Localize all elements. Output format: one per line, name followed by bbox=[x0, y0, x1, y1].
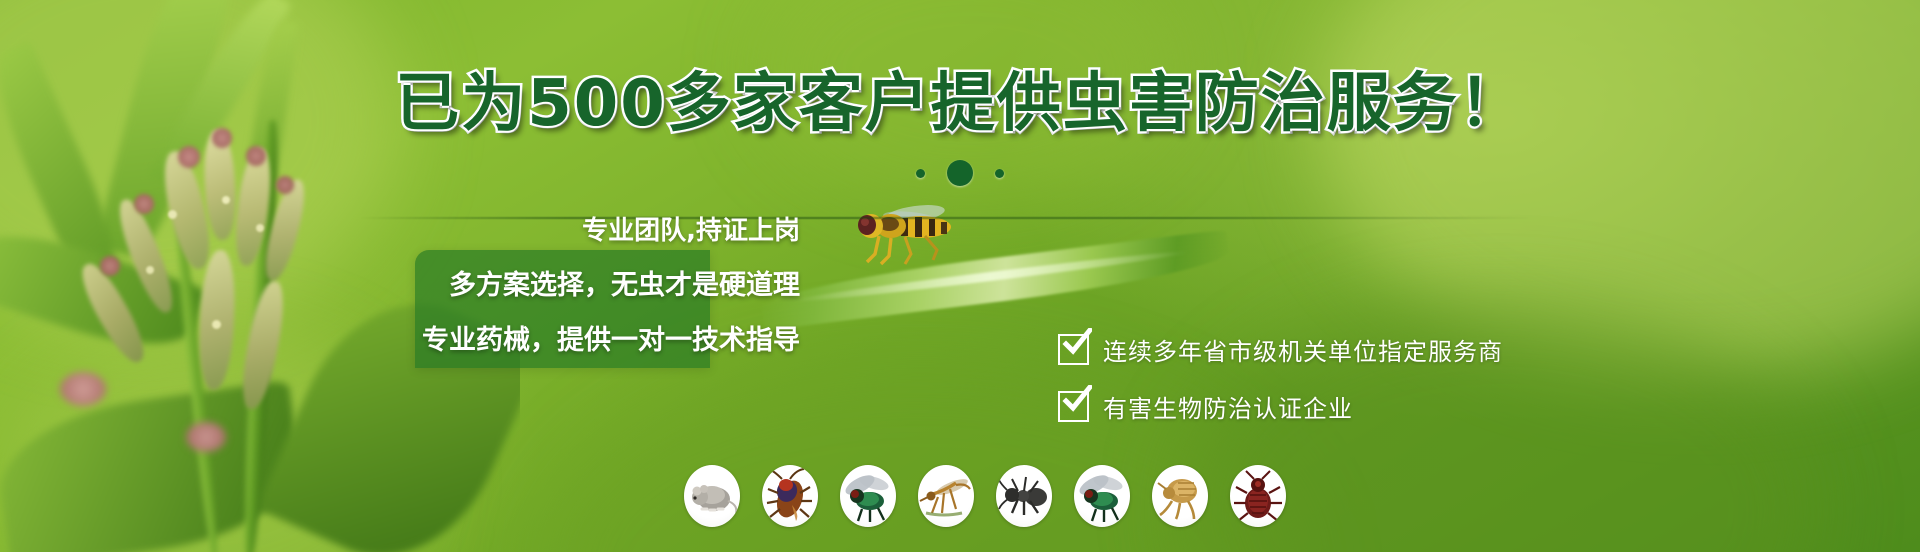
claim-line-2: 多方案选择，无虫才是硬道理 bbox=[340, 263, 800, 302]
promo-banner: 已为500多家客户提供虫害防治服务！ 专业团队,持证上岗 多方案选择，无虫才是硬… bbox=[0, 0, 1920, 552]
pest-icon-fly bbox=[840, 465, 896, 527]
checklist-item: 连续多年省市级机关单位指定服务商 bbox=[1058, 332, 1503, 367]
checklist-item-label: 连续多年省市级机关单位指定服务商 bbox=[1103, 332, 1503, 367]
claims-text-group: 专业团队,持证上岗 多方案选择，无虫才是硬道理 专业药械，提供一对一技术指导 bbox=[340, 210, 800, 357]
pest-icon-fly bbox=[1074, 465, 1130, 527]
claim-line-3: 专业药械，提供一对一技术指导 bbox=[340, 318, 800, 357]
hoverfly-icon bbox=[845, 196, 965, 268]
page-title-text: 已为500多家客户提供虫害防治服务！ bbox=[395, 67, 1525, 141]
page-title: 已为500多家客户提供虫害防治服务！ bbox=[0, 72, 1920, 136]
pest-icon-flea bbox=[1152, 465, 1208, 527]
dot-small-icon bbox=[995, 169, 1004, 178]
pest-icon-cockroach bbox=[762, 465, 818, 527]
pest-icon-mouse bbox=[684, 465, 740, 527]
pest-icon-ant bbox=[996, 465, 1052, 527]
dot-large-icon bbox=[947, 160, 973, 186]
checkbox-checked-icon bbox=[1058, 334, 1089, 365]
dot-small-icon bbox=[916, 169, 925, 178]
decorative-dots bbox=[0, 160, 1920, 186]
pest-icon-row bbox=[684, 465, 1286, 527]
checkbox-checked-icon bbox=[1058, 391, 1089, 422]
checklist: 连续多年省市级机关单位指定服务商 有害生物防治认证企业 bbox=[1058, 332, 1503, 446]
claim-line-1: 专业团队,持证上岗 bbox=[340, 210, 800, 247]
pest-icon-bedbug bbox=[1230, 465, 1286, 527]
pest-icon-mosquito bbox=[918, 465, 974, 527]
checklist-item: 有害生物防治认证企业 bbox=[1058, 389, 1503, 424]
checklist-item-label: 有害生物防治认证企业 bbox=[1103, 389, 1353, 424]
